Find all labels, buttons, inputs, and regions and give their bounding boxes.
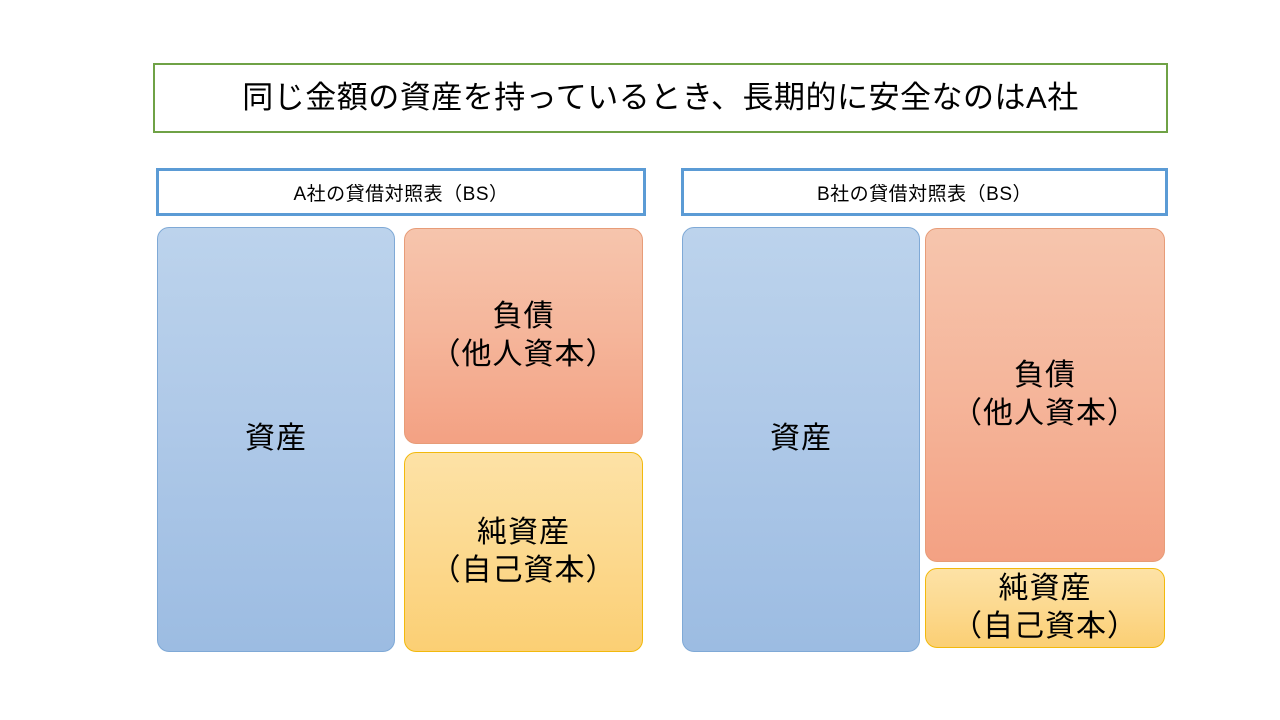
bs-block-label-line: 資産 [245,420,307,458]
bs-block-label-line: 純資産 [999,570,1092,608]
slide-canvas: 同じ金額の資産を持っているとき、長期的に安全なのはA社 A社の貸借対照表（BS）… [0,0,1280,720]
bs-block-label-line: （他人資本） [431,336,617,374]
bs-block-label-line: 資産 [770,420,832,458]
bs-block-net-assets-company-b: 純資産 （自己資本） [925,568,1165,648]
bs-block-label-line: （自己資本） [952,608,1138,646]
bs-block-label-line: （自己資本） [431,552,617,590]
column-header-label-company-a: A社の貸借対照表（BS） [293,179,508,206]
column-header-company-b: B社の貸借対照表（BS） [681,168,1168,216]
bs-block-label-line: 純資産 [477,514,570,552]
bs-block-assets-company-a: 資産 [157,227,395,652]
column-header-company-a: A社の貸借対照表（BS） [156,168,646,216]
bs-block-net-assets-company-a: 純資産 （自己資本） [404,452,643,652]
bs-block-label-line: （他人資本） [952,395,1138,433]
slide-title-text: 同じ金額の資産を持っているとき、長期的に安全なのはA社 [242,81,1078,115]
bs-block-label-line: 負債 [493,298,555,336]
column-header-label-company-b: B社の貸借対照表（BS） [817,179,1032,206]
bs-block-label-line: 負債 [1014,357,1076,395]
bs-block-assets-company-b: 資産 [682,227,920,652]
slide-title-box: 同じ金額の資産を持っているとき、長期的に安全なのはA社 [153,63,1168,133]
bs-block-liabilities-company-a: 負債 （他人資本） [404,228,643,444]
bs-block-liabilities-company-b: 負債 （他人資本） [925,228,1165,562]
